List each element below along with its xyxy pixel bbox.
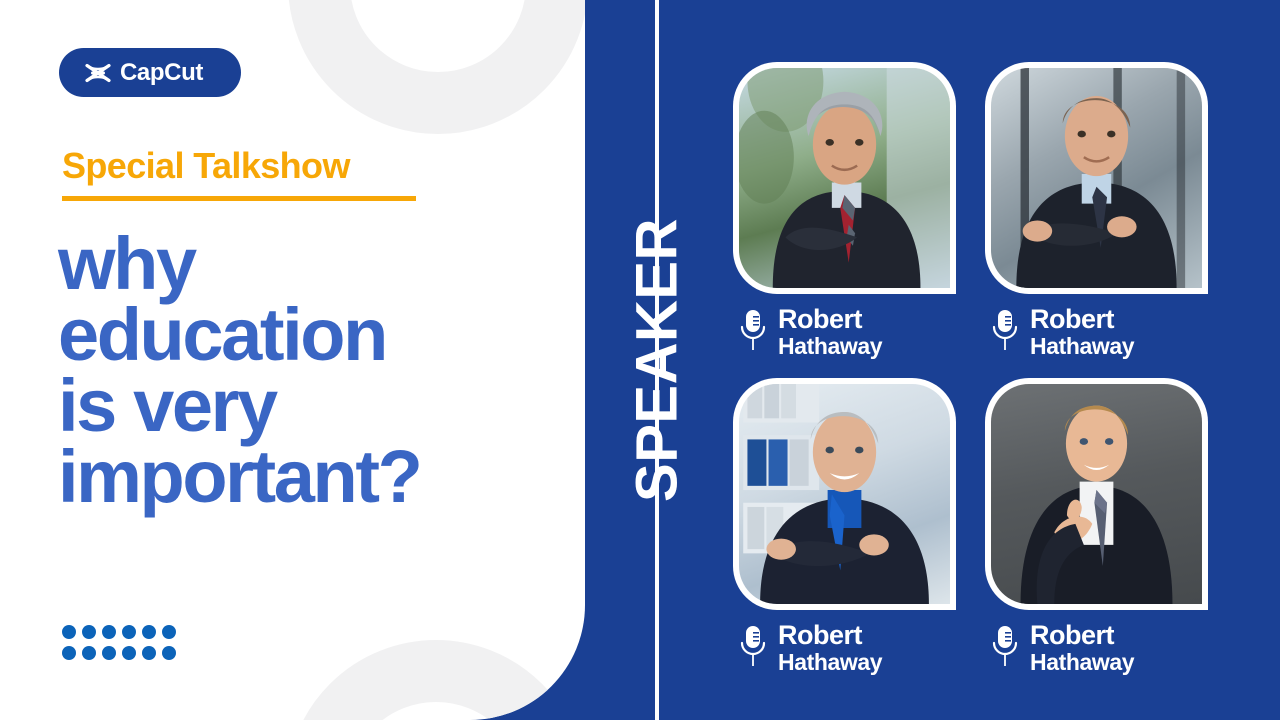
headline-line-3: is very bbox=[58, 370, 420, 441]
speaker-photo bbox=[739, 68, 950, 288]
speaker-name: Robert Hathaway bbox=[778, 622, 882, 674]
speaker-photo bbox=[991, 68, 1202, 288]
microphone-icon bbox=[739, 624, 767, 673]
decorative-ring-top bbox=[288, 0, 585, 134]
speaker-first-name: Robert bbox=[778, 306, 882, 333]
speaker-photo-frame bbox=[985, 378, 1208, 610]
speaker-name-row: Robert Hathaway bbox=[985, 622, 1208, 674]
speaker-name-row: Robert Hathaway bbox=[985, 306, 1208, 358]
dot bbox=[142, 646, 156, 660]
dot bbox=[62, 646, 76, 660]
speaker-last-name: Hathaway bbox=[778, 335, 882, 358]
dot bbox=[102, 646, 116, 660]
speaker-card[interactable]: Robert Hathaway bbox=[733, 378, 956, 682]
speaker-photo bbox=[739, 384, 950, 604]
speaker-portrait-4 bbox=[991, 384, 1202, 604]
dot bbox=[142, 625, 156, 639]
subtitle-underline bbox=[62, 196, 416, 201]
microphone-icon bbox=[739, 308, 767, 357]
speaker-photo-frame bbox=[985, 62, 1208, 294]
speaker-name-row: Robert Hathaway bbox=[733, 306, 956, 358]
speaker-portrait-1 bbox=[739, 68, 950, 288]
speaker-last-name: Hathaway bbox=[1030, 651, 1134, 674]
capcut-logo-text: CapCut bbox=[120, 59, 203, 87]
speaker-photo bbox=[991, 384, 1202, 604]
speaker-portrait-2 bbox=[991, 68, 1202, 288]
speaker-card[interactable]: Robert Hathaway bbox=[985, 378, 1208, 682]
headline-line-4: important? bbox=[58, 441, 420, 512]
speaker-first-name: Robert bbox=[1030, 306, 1134, 333]
speaker-portrait-3 bbox=[739, 384, 950, 604]
dot bbox=[102, 625, 116, 639]
microphone-icon bbox=[991, 624, 1019, 673]
dot bbox=[82, 625, 96, 639]
speaker-card[interactable]: Robert Hathaway bbox=[733, 62, 956, 366]
speaker-first-name: Robert bbox=[778, 622, 882, 649]
dot bbox=[82, 646, 96, 660]
speaker-card[interactable]: Robert Hathaway bbox=[985, 62, 1208, 366]
subtitle-text: Special Talkshow bbox=[62, 148, 416, 184]
dot bbox=[162, 646, 176, 660]
speaker-grid: Robert Hathaway bbox=[733, 62, 1208, 682]
headline-line-1: why bbox=[58, 228, 420, 299]
speaker-name-row: Robert Hathaway bbox=[733, 622, 956, 674]
dot bbox=[162, 625, 176, 639]
speaker-section-label: SPEAKER bbox=[624, 218, 691, 502]
headline-line-2: education bbox=[58, 299, 420, 370]
capcut-logo-icon bbox=[85, 63, 111, 83]
speaker-photo-frame bbox=[733, 62, 956, 294]
speaker-name: Robert Hathaway bbox=[778, 306, 882, 358]
decorative-ring-bottom bbox=[286, 640, 585, 720]
dot bbox=[122, 625, 136, 639]
dot bbox=[122, 646, 136, 660]
decorative-dot-grid bbox=[62, 625, 176, 660]
speaker-name: Robert Hathaway bbox=[1030, 306, 1134, 358]
speaker-last-name: Hathaway bbox=[1030, 335, 1134, 358]
subtitle-group: Special Talkshow bbox=[62, 148, 416, 201]
speaker-photo-frame bbox=[733, 378, 956, 610]
microphone-icon bbox=[991, 308, 1019, 357]
speaker-first-name: Robert bbox=[1030, 622, 1134, 649]
speaker-last-name: Hathaway bbox=[778, 651, 882, 674]
page-title: why education is very important? bbox=[58, 228, 420, 512]
dot bbox=[62, 625, 76, 639]
capcut-logo-badge[interactable]: CapCut bbox=[59, 48, 241, 97]
speaker-name: Robert Hathaway bbox=[1030, 622, 1134, 674]
